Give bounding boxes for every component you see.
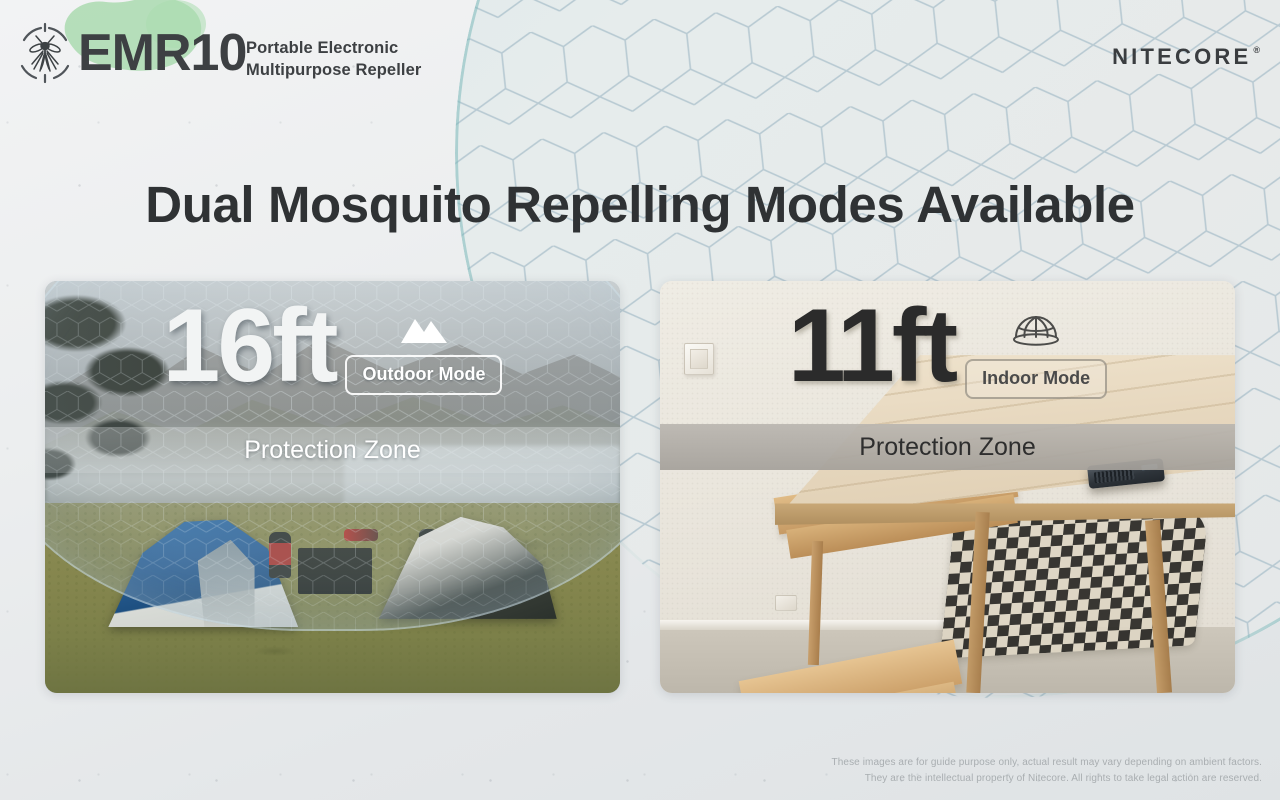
- header: EMR10 Portable Electronic Multipurpose R…: [0, 0, 1280, 110]
- outdoor-distance-value: 16ft: [163, 297, 336, 397]
- mosquito-repel-icon: [14, 22, 76, 84]
- disclaimer-line-2: They are the intellectual property of Ni…: [832, 771, 1262, 787]
- indoor-protection-zone-band: Protection Zone: [660, 424, 1235, 470]
- mode-comparison-panels: 16ft Outdoor Mode Protection Zone: [45, 281, 1235, 693]
- indoor-distance-row: 11ft Indoor Mode: [660, 297, 1235, 399]
- tagline-line-1: Portable Electronic: [246, 38, 421, 60]
- dome-globe-icon: [1010, 311, 1062, 349]
- disclaimer-line-1: These images are for guide purpose only,…: [832, 755, 1262, 771]
- disclaimer: These images are for guide purpose only,…: [832, 755, 1262, 786]
- product-logo: EMR10: [14, 22, 246, 84]
- product-tagline: Portable Electronic Multipurpose Repelle…: [246, 38, 421, 82]
- outdoor-distance-row: 16ft Outdoor Mode: [45, 297, 620, 397]
- indoor-badge-column: Indoor Mode: [965, 297, 1107, 399]
- product-code-text: EMR10: [78, 27, 246, 79]
- brand-logo: NITECORE ®: [1112, 44, 1260, 70]
- brand-name-text: NITECORE: [1112, 44, 1251, 70]
- indoor-mode-panel: 11ft Indoor Mode Prot: [660, 281, 1235, 693]
- indoor-overlay: 11ft Indoor Mode Prot: [660, 281, 1235, 693]
- indoor-distance-value: 11ft: [788, 297, 955, 397]
- outdoor-protection-zone-band: Protection Zone: [45, 427, 620, 473]
- tagline-line-2: Multipurpose Repeller: [246, 60, 421, 82]
- registered-trademark-icon: ®: [1253, 45, 1260, 55]
- outdoor-badge-column: Outdoor Mode: [345, 297, 502, 395]
- outdoor-mode-panel: 16ft Outdoor Mode Protection Zone: [45, 281, 620, 693]
- outdoor-overlay: 16ft Outdoor Mode Protection Zone: [45, 281, 620, 693]
- page-title: Dual Mosquito Repelling Modes Available: [0, 175, 1280, 234]
- outdoor-mode-badge[interactable]: Outdoor Mode: [345, 355, 502, 395]
- mountain-icon: [397, 311, 451, 345]
- indoor-mode-badge[interactable]: Indoor Mode: [965, 359, 1107, 399]
